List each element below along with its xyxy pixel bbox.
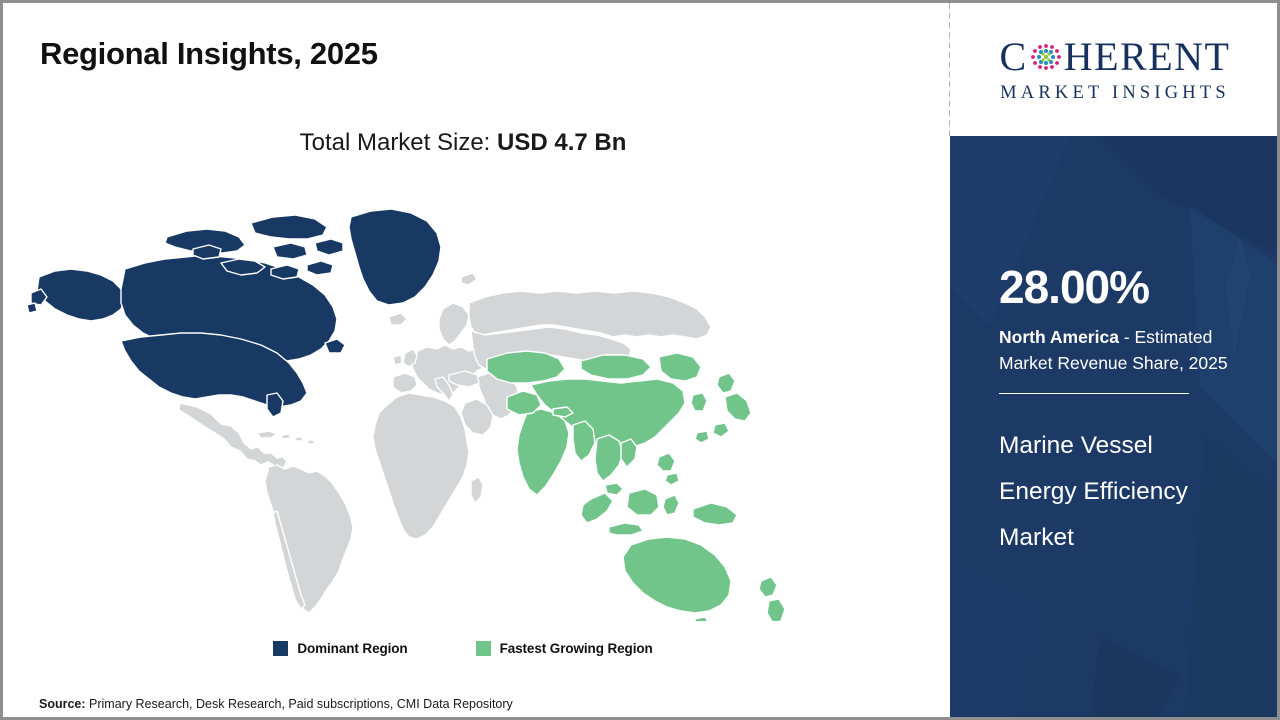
market-size-label: Total Market Size: [300,129,491,156]
left-panel: Regional Insights, 2025 Total Market Siz… [3,3,949,717]
legend-label-fastest-growing: Fastest Growing Region [500,641,653,656]
legend-item-fastest-growing: Fastest Growing Region [476,641,653,656]
legend-swatch-dominant [273,641,288,656]
source-line: Source: Primary Research, Desk Research,… [39,697,513,711]
logo-tagline: MARKET INSIGHTS [965,84,1265,103]
world-map-svg [25,181,885,621]
infographic-root: Regional Insights, 2025 Total Market Siz… [0,0,1280,720]
market-name: Marine Vessel Energy Efficiency Market [999,423,1229,560]
stat-content: 28.00% North America - Estimated Market … [999,136,1267,561]
legend-label-dominant: Dominant Region [297,641,407,656]
legend-item-dominant: Dominant Region [273,641,407,656]
stat-percentage: 28.00% [999,264,1267,310]
logo-letters-herent: HERENT [1064,37,1231,77]
dotted-globe-icon [1029,40,1063,74]
world-map [25,181,885,621]
stat-region-name: North America [999,327,1119,347]
source-label: Source: [39,697,86,711]
source-text: Primary Research, Desk Research, Paid su… [89,697,513,711]
logo-wordmark: C [965,37,1265,77]
logo-letter-c: C [1000,37,1028,77]
stat-description: North America - Estimated Market Revenue… [999,325,1264,376]
total-market-size: Total Market Size: USD 4.7 Bn [3,129,923,157]
right-column: C [950,3,1280,717]
page-title: Regional Insights, 2025 [40,36,378,72]
logo: C [950,3,1280,136]
map-legend: Dominant Region Fastest Growing Region [3,641,923,656]
stat-divider-rule [999,393,1189,394]
map-region-asia-pacific [487,351,785,621]
stat-panel: 28.00% North America - Estimated Market … [950,136,1280,717]
market-size-value: USD 4.7 Bn [497,129,626,156]
legend-swatch-fastest-growing [476,641,491,656]
map-region-north-america [27,209,441,417]
